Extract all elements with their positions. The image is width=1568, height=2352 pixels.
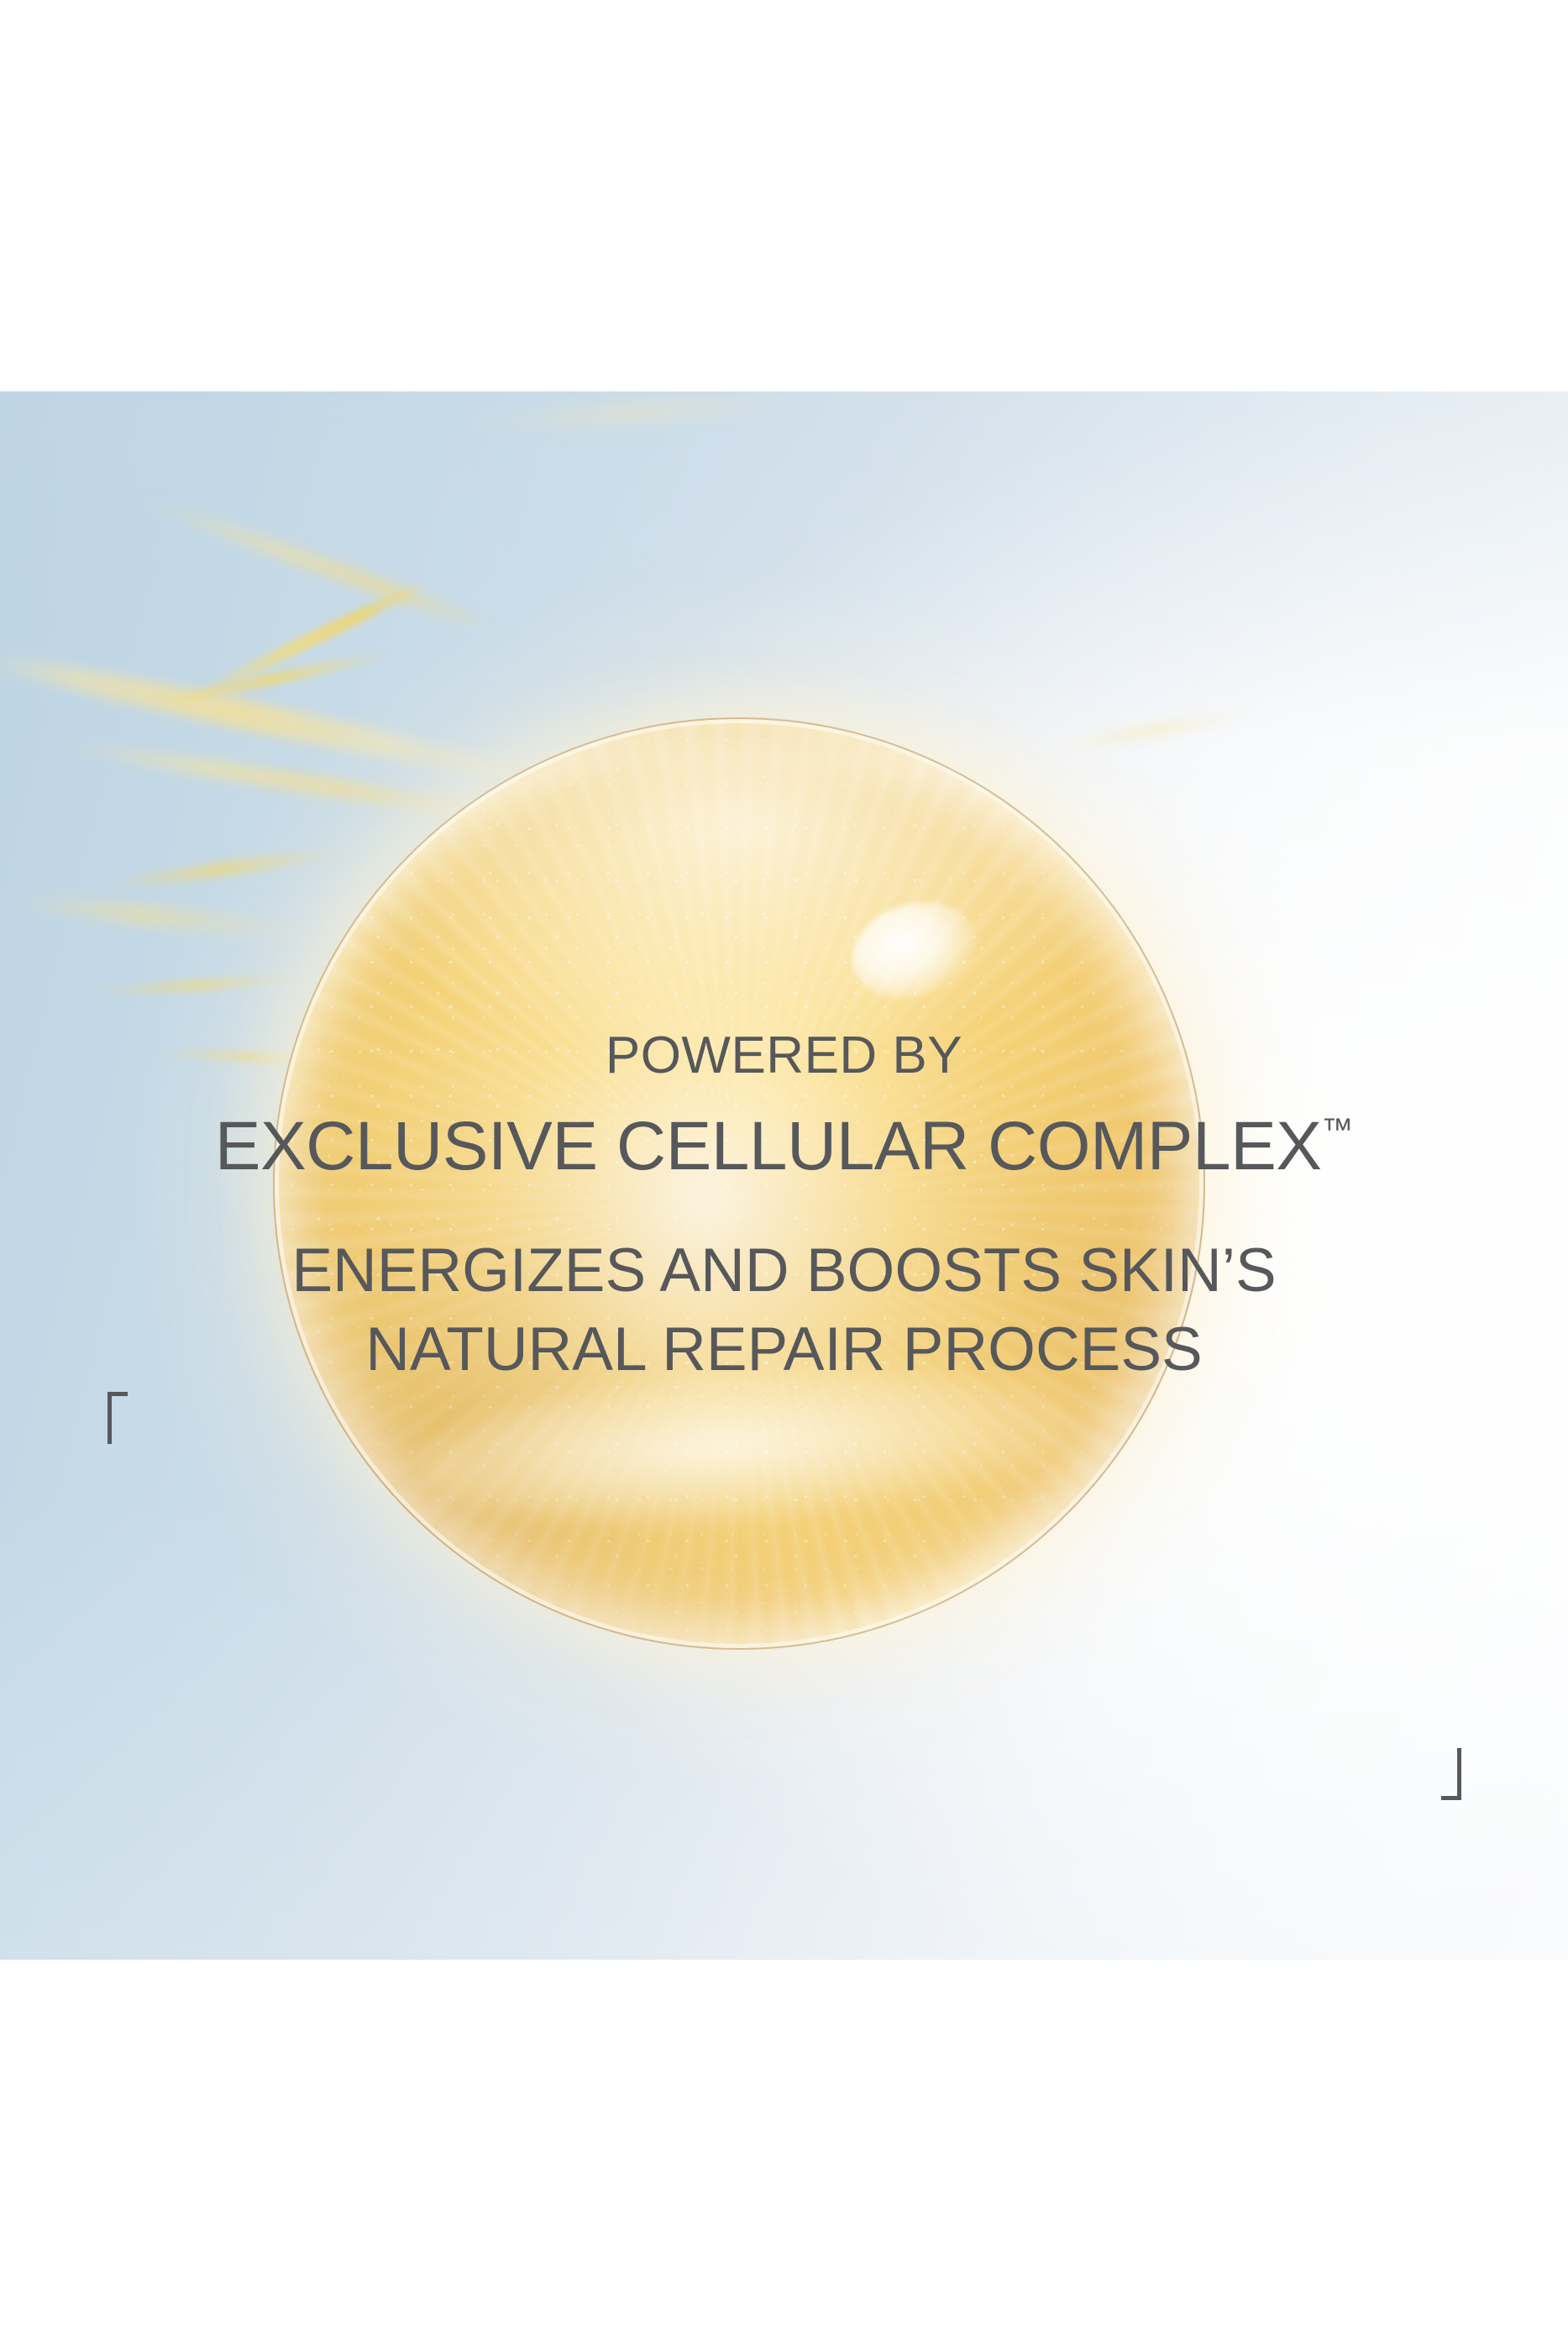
sphere-body: [273, 717, 1205, 1650]
bracket-vertical-stroke: [108, 1392, 112, 1444]
splash-streak-icon: [454, 392, 806, 433]
sphere-top-sheen: [366, 736, 1112, 1053]
bracket-vertical-stroke: [1457, 1748, 1461, 1800]
bracket-horizontal-stroke: [108, 1392, 128, 1396]
splash-streak-icon: [146, 648, 395, 711]
corner-bracket-top-left: [108, 1392, 128, 1444]
golden-sphere: [273, 717, 1205, 1650]
splash-streak-icon: [134, 491, 503, 638]
splash-streak-icon: [179, 575, 434, 708]
poster-page: POWERED BY EXCLUSIVE CELLULAR COMPLEX™ E…: [0, 0, 1568, 2352]
bracket-horizontal-stroke: [1441, 1796, 1461, 1800]
hero-image-band: [0, 391, 1568, 1960]
corner-bracket-bottom-right: [1441, 1748, 1461, 1800]
